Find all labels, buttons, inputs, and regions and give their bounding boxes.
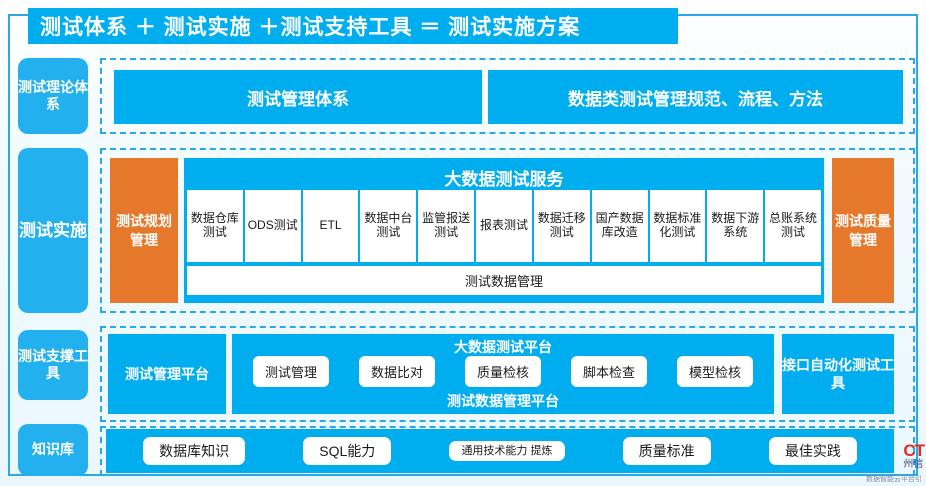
service-cell[interactable]: 报表测试	[476, 190, 532, 262]
knowledge-base-panel: 数据库知识 SQL能力 通用技术能力 提炼 质量标准 最佳实践	[106, 429, 894, 473]
watermark-logo-text: CT	[903, 442, 924, 459]
rail-label-support-tools: 测试支撑工具	[18, 330, 88, 400]
knowledge-pill[interactable]: 质量标准	[623, 437, 711, 465]
knowledge-pill[interactable]: 通用技术能力 提炼	[449, 441, 564, 462]
bigdata-test-service-panel: 大数据测试服务 数据仓库测试 ODS测试 ETL 数据中台测试 监管报送测试 报…	[184, 158, 824, 303]
pillar-test-planning-management[interactable]: 测试规划管理	[110, 158, 178, 303]
bigdata-service-cells: 数据仓库测试 ODS测试 ETL 数据中台测试 监管报送测试 报表测试 数据迁移…	[187, 190, 821, 262]
platform-pill[interactable]: 数据比对	[359, 356, 435, 387]
service-cell[interactable]: 国产数据库改造	[592, 190, 648, 262]
bigdata-service-title: 大数据测试服务	[184, 158, 824, 188]
bigdata-test-platform-panel: 大数据测试平台 测试管理 数据比对 质量检核 脚本检查 模型检核 测试数据管理平…	[232, 334, 774, 414]
service-cell[interactable]: 数据仓库测试	[187, 190, 243, 262]
service-cell[interactable]: 数据中台测试	[360, 190, 416, 262]
watermark-sub-text: 州信	[903, 459, 924, 470]
test-data-management-bar[interactable]: 测试数据管理	[187, 266, 821, 295]
knowledge-pill[interactable]: 数据库知识	[143, 437, 245, 465]
tool-box-api-automation[interactable]: 接口自动化测试工具	[782, 334, 894, 414]
platform-pill-row: 测试管理 数据比对 质量检核 脚本检查 模型检核	[232, 353, 774, 389]
knowledge-pill[interactable]: SQL能力	[303, 437, 391, 465]
service-cell[interactable]: 监管报送测试	[418, 190, 474, 262]
platform-bottom-label: 测试数据管理平台	[232, 389, 774, 409]
service-cell[interactable]: ODS测试	[245, 190, 301, 262]
watermark-tiny-text: 数据智能云平台引	[866, 474, 922, 484]
watermark-logo: CT 州信	[903, 442, 924, 470]
knowledge-pill[interactable]: 最佳实践	[769, 437, 857, 465]
tool-box-test-management-platform[interactable]: 测试管理平台	[108, 334, 226, 414]
platform-top-label: 大数据测试平台	[232, 334, 774, 353]
rail-label-implementation: 测试实施	[18, 148, 88, 313]
service-cell[interactable]: 数据迁移测试	[534, 190, 590, 262]
diagram-canvas: 测试体系 ＋ 测试实施 ＋测试支持工具 ＝ 测试实施方案 测试理论体系 测试实施…	[0, 0, 926, 486]
page-title: 测试体系 ＋ 测试实施 ＋测试支持工具 ＝ 测试实施方案	[28, 11, 580, 41]
service-cell[interactable]: ETL	[303, 190, 359, 262]
platform-pill[interactable]: 质量检核	[465, 356, 541, 387]
service-cell[interactable]: 数据标准化测试	[650, 190, 706, 262]
service-cell[interactable]: 数据下游系统	[707, 190, 763, 262]
theory-box-data-test-norms[interactable]: 数据类测试管理规范、流程、方法	[488, 70, 903, 124]
platform-pill[interactable]: 模型检核	[677, 356, 753, 387]
title-banner: 测试体系 ＋ 测试实施 ＋测试支持工具 ＝ 测试实施方案	[28, 8, 678, 44]
service-cell[interactable]: 总账系统测试	[765, 190, 821, 262]
platform-pill[interactable]: 测试管理	[253, 356, 329, 387]
platform-pill[interactable]: 脚本检查	[571, 356, 647, 387]
theory-box-management-system[interactable]: 测试管理体系	[114, 70, 482, 124]
rail-label-knowledge-base: 知识库	[18, 424, 88, 476]
pillar-test-quality-management[interactable]: 测试质量管理	[832, 158, 894, 303]
rail-label-theory: 测试理论体系	[18, 58, 88, 134]
